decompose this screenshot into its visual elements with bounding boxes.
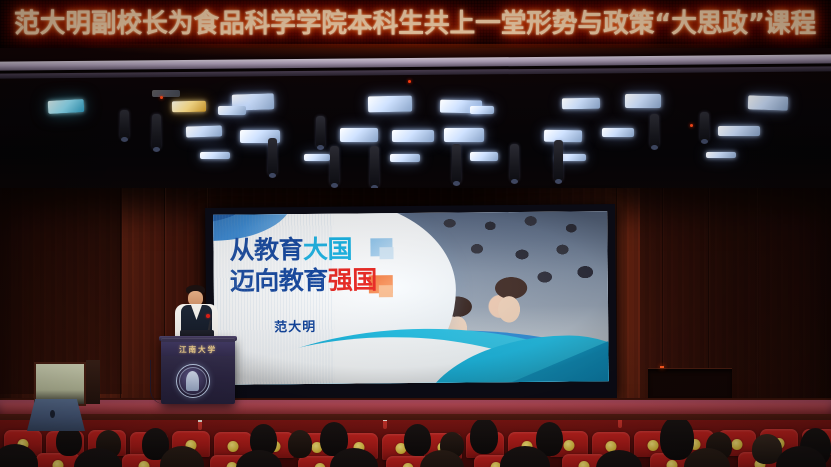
slide-text-group: 从教育大国 迈向教育强国 范大明 bbox=[229, 234, 470, 335]
spotlight-fixture bbox=[452, 144, 461, 184]
audience-head bbox=[404, 424, 431, 456]
truss-light bbox=[200, 152, 230, 159]
ceiling-truss-area bbox=[0, 48, 831, 200]
slide-title-2a: 迈向教育 bbox=[230, 266, 328, 296]
truss-light bbox=[390, 154, 420, 162]
spotlight-fixture bbox=[554, 140, 563, 182]
slide-title-line-2: 迈向教育强国 bbox=[230, 265, 470, 294]
truss-light bbox=[186, 125, 222, 137]
stage-monitor-port bbox=[50, 410, 55, 418]
spotlight-fixture bbox=[120, 110, 129, 140]
projection-screen: 从教育大国 迈向教育强国 范大明 bbox=[213, 211, 609, 385]
truss-light bbox=[444, 128, 484, 142]
spotlight-fixture bbox=[268, 138, 277, 176]
slide-title-line-1: 从教育大国 bbox=[229, 234, 469, 263]
auditorium-lecture-screenshot: 范大明副校长为食品科学学院本科生共上一堂形势与政策“大思政”课程 bbox=[0, 0, 831, 467]
indicator-led bbox=[660, 366, 664, 368]
audience-seating bbox=[0, 420, 831, 467]
spotlight-fixture bbox=[316, 116, 325, 148]
truss-light bbox=[368, 96, 412, 113]
slide-presenter-name: 范大明 bbox=[274, 314, 470, 335]
spotlight-fixture bbox=[510, 144, 519, 182]
university-crest-ring bbox=[179, 367, 207, 395]
truss-light bbox=[152, 90, 180, 97]
spotlight-fixture bbox=[700, 112, 709, 142]
spotlight-fixture bbox=[650, 114, 659, 148]
truss-light bbox=[625, 94, 661, 108]
truss-light bbox=[304, 154, 330, 161]
slide-title-1a: 从教育 bbox=[229, 235, 303, 265]
spotlight-fixture bbox=[152, 114, 161, 150]
indicator-led bbox=[408, 80, 411, 83]
truss-light bbox=[470, 152, 498, 161]
truss-light bbox=[602, 128, 634, 137]
slide-title-2b: 强国 bbox=[328, 265, 377, 294]
lectern-with-speaker: 江南大学 bbox=[150, 286, 242, 404]
truss-light bbox=[172, 101, 206, 113]
truss-light bbox=[470, 106, 494, 114]
truss-light bbox=[218, 106, 246, 115]
truss-light bbox=[562, 98, 600, 110]
truss-light bbox=[718, 126, 760, 136]
truss-light bbox=[48, 99, 85, 114]
water-bottle bbox=[383, 420, 387, 429]
audience-head bbox=[288, 430, 312, 458]
truss-light bbox=[340, 128, 378, 142]
lectern-nameplate: 江南大学 bbox=[161, 342, 235, 356]
projection-screen-bezel: 从教育大国 迈向教育强国 范大明 bbox=[205, 204, 617, 402]
speaker-lapel-pin bbox=[206, 314, 210, 318]
wall-vent-panel bbox=[648, 368, 732, 399]
truss-light bbox=[706, 152, 736, 158]
audience-head bbox=[470, 420, 498, 454]
stage-floor-monitor-speaker bbox=[27, 399, 85, 431]
truss-light bbox=[544, 130, 582, 143]
spotlight-fixture bbox=[330, 146, 339, 186]
led-banner: 范大明副校长为食品科学学院本科生共上一堂形势与政策“大思政”课程 bbox=[0, 0, 831, 48]
indicator-led bbox=[690, 124, 693, 127]
slide-title-1b: 大国 bbox=[303, 235, 352, 264]
side-post bbox=[86, 360, 100, 404]
led-banner-text: 范大明副校长为食品科学学院本科生共上一堂形势与政策“大思政”课程 bbox=[15, 11, 817, 37]
spotlight-fixture bbox=[370, 146, 379, 188]
water-bottle bbox=[618, 420, 622, 428]
lectern-nameplate-text: 江南大学 bbox=[179, 344, 217, 354]
indicator-led bbox=[160, 96, 163, 99]
truss-light bbox=[748, 95, 788, 110]
truss-light bbox=[392, 130, 434, 142]
water-bottle bbox=[198, 420, 202, 430]
